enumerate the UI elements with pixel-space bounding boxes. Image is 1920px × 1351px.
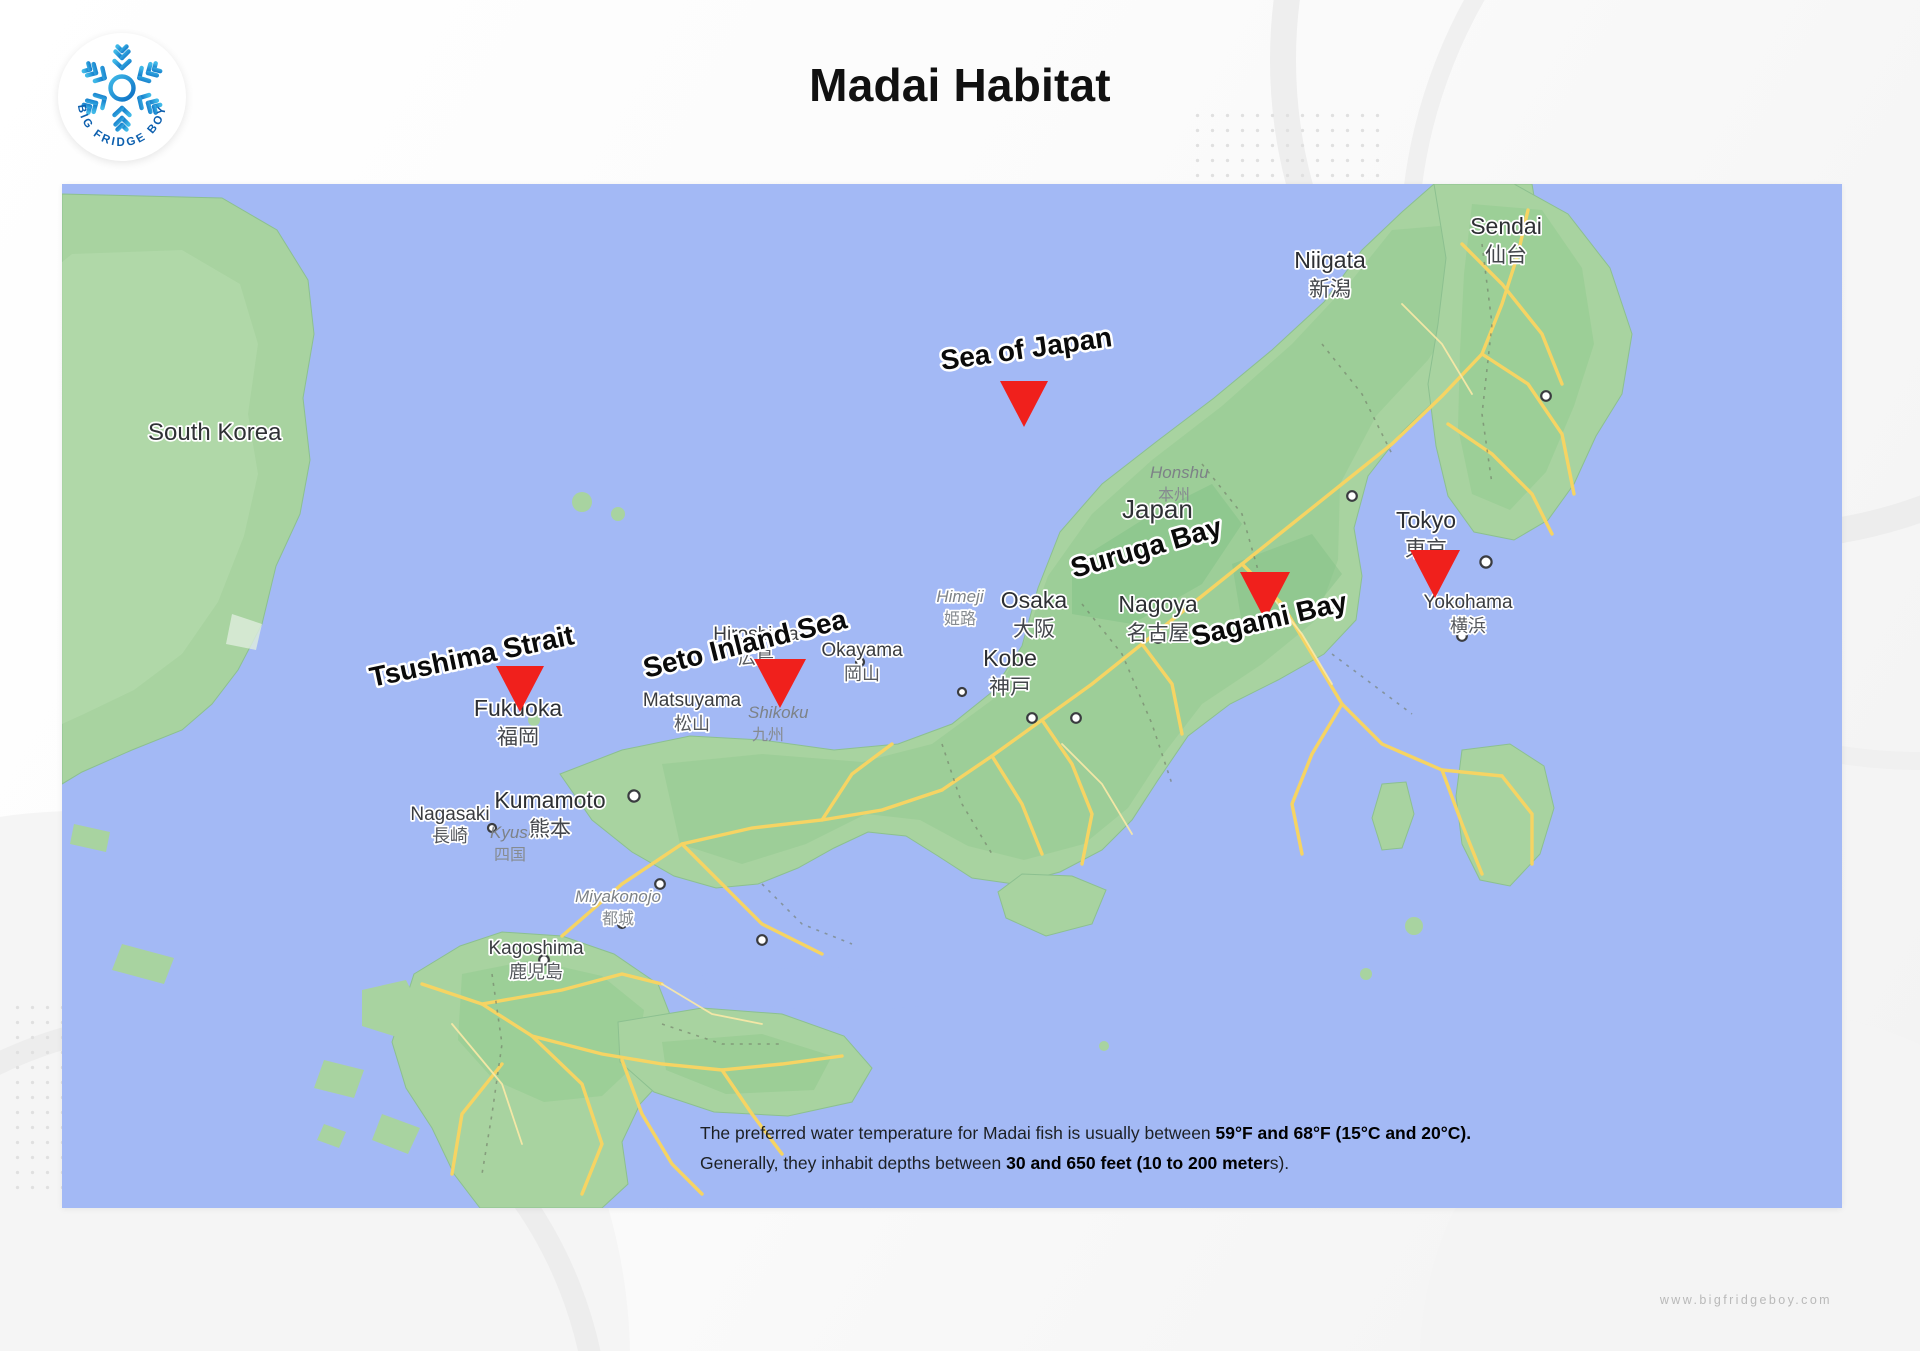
footer-website-url: www.bigfridgeboy.com — [1660, 1293, 1832, 1307]
page-title: Madai Habitat — [0, 58, 1920, 112]
map-label-miyakonojo: Miyakonojo — [575, 887, 661, 906]
map-label-kumamoto-jp: 熊本 — [529, 817, 571, 841]
map-label-kyushu-jp: 四国 — [494, 845, 526, 864]
caption-line-2-tail: s). — [1270, 1153, 1289, 1173]
map-label-nagasaki-jp: 長崎 — [432, 826, 468, 847]
map-label-niigata: Niigata — [1294, 247, 1366, 273]
map-label-kobe-jp: 神戸 — [989, 675, 1031, 699]
caption-line-1: The preferred water temperature for Mada… — [700, 1118, 1540, 1148]
map-label-sendai: Sendai — [1470, 213, 1542, 239]
map-label-nagasaki: Nagasaki — [410, 804, 489, 825]
caption-line-2-bold: 30 and 650 feet (10 to 200 meter — [1006, 1153, 1270, 1173]
habitat-map[interactable]: South Korea Japan Honshu 本州 Shikoku 九州 K… — [62, 184, 1842, 1208]
map-label-shikoku: Shikoku — [748, 703, 809, 722]
map-label-yokohama: Yokohama — [1423, 592, 1513, 613]
map-label-nagoya: Nagoya — [1118, 591, 1197, 617]
caption-line-2: Generally, they inhabit depths between 3… — [700, 1148, 1540, 1178]
map-label-yokohama-jp: 横浜 — [1450, 616, 1486, 637]
caption-line-1-bold: 59°F and 68°F (15°C and 20°C). — [1216, 1123, 1472, 1143]
map-label-osaka-jp: 大阪 — [1013, 617, 1055, 641]
map-label-kobe: Kobe — [983, 645, 1037, 671]
map-label-matsuyama-jp: 松山 — [674, 714, 710, 735]
brand-logo: BIG FRIDGE BOY — [58, 33, 186, 161]
map-label-tokyo: Tokyo — [1396, 507, 1456, 533]
map-label-niigata-jp: 新潟 — [1309, 277, 1351, 301]
map-label-kagoshima-jp: 鹿児島 — [509, 962, 563, 983]
map-label-okayama-jp: 岡山 — [844, 664, 880, 685]
map-label-kumamoto: Kumamoto — [494, 787, 605, 813]
map-label-matsuyama: Matsuyama — [643, 690, 742, 711]
map-label-nagoya-jp: 名古屋 — [1127, 621, 1190, 645]
map-label-himeji-jp: 姫路 — [944, 609, 976, 628]
map-label-shikoku-jp: 九州 — [752, 725, 784, 744]
map-label-okayama: Okayama — [821, 640, 903, 661]
snowflake-icon: BIG FRIDGE BOY — [61, 36, 183, 158]
map-label-fukuoka-jp: 福岡 — [497, 725, 539, 749]
map-label-honshu: Honshu — [1150, 463, 1209, 482]
habitat-caption: The preferred water temperature for Mada… — [700, 1118, 1540, 1178]
caption-line-1-text: The preferred water temperature for Mada… — [700, 1123, 1216, 1143]
map-label-kagoshima: Kagoshima — [488, 938, 583, 959]
map-label-honshu-jp: 本州 — [1158, 485, 1190, 504]
decorative-dot-grid-top-right — [1190, 108, 1380, 180]
map-label-himeji: Himeji — [936, 587, 984, 606]
caption-line-2-text: Generally, they inhabit depths between — [700, 1153, 1006, 1173]
map-label-south-korea: South Korea — [148, 419, 282, 446]
map-label-miyakonojo-jp: 都城 — [602, 909, 634, 928]
slide-root: BIG FRIDGE BOY Madai Habitat — [0, 0, 1920, 1351]
map-label-osaka: Osaka — [1001, 587, 1068, 613]
map-label-sendai-jp: 仙台 — [1485, 243, 1527, 267]
